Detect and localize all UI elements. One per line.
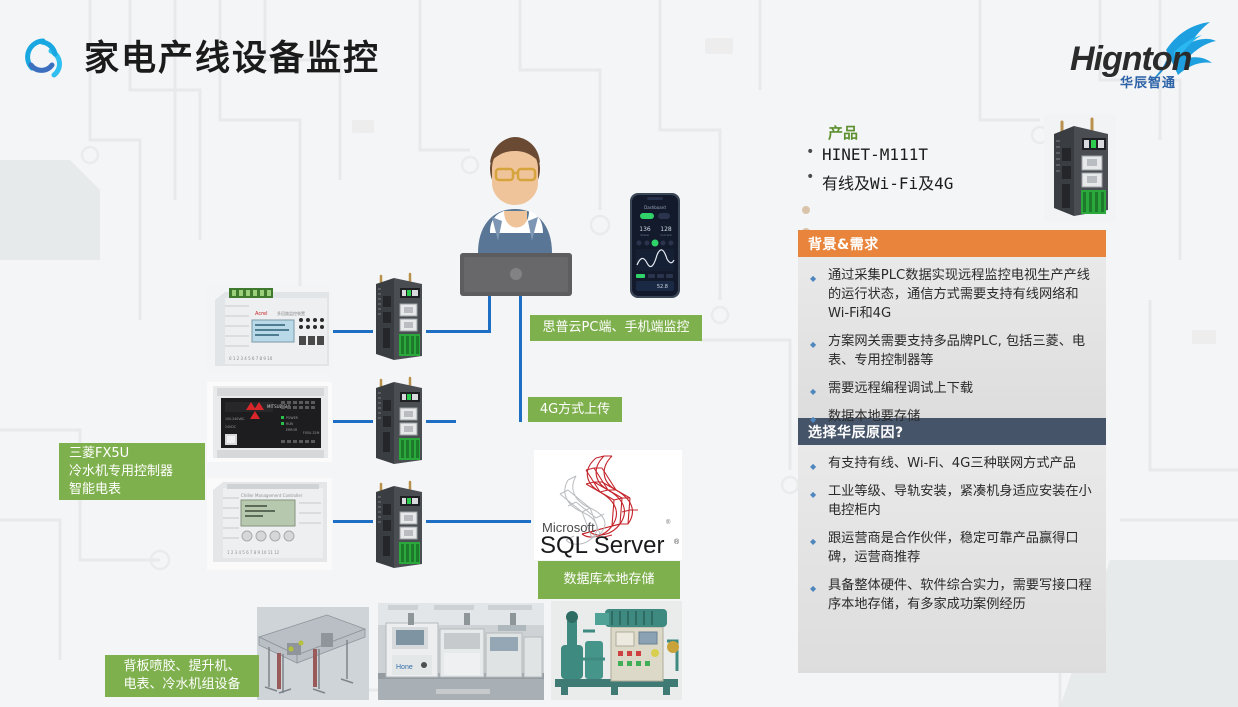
product-block: 产品 HINET-M111T 有线及Wi-Fi及4G	[798, 112, 1106, 230]
svg-text:24VDC: 24VDC	[225, 425, 237, 429]
label-left-devices: 三菱FX5U 冷水机专用控制器 智能电表	[59, 443, 205, 500]
hinet-gateway-device-1	[370, 272, 426, 364]
hinet-gateway-device-3	[370, 480, 426, 572]
reason-item-3: 具备整体硬件、软件综合实力，需要写接口程序本地存储，有多家成功案例经历	[806, 576, 1096, 614]
link-gateway0-trunk	[426, 330, 491, 333]
label-bottom-equipment-text: 背板喷胶、提升机、 电表、冷水机组设备	[123, 658, 240, 694]
label-bottom-equipment: 背板喷胶、提升机、 电表、冷水机组设备	[105, 655, 259, 697]
svg-text:FX5U-32M: FX5U-32M	[303, 431, 320, 435]
photo-conveyor-equipment	[257, 607, 369, 700]
svg-text:Hone: Hone	[396, 664, 413, 671]
product-item-1: 有线及Wi-Fi及4G	[806, 170, 953, 194]
bg-req-item-1: 方案网关需要支持多品牌PLC, 包括三菱、电表、专用控制器等	[806, 332, 1096, 370]
svg-text:®: ®	[674, 538, 680, 546]
svg-text:®: ®	[666, 519, 671, 526]
reason-item-2: 跟运营商是合作伙伴，稳定可靠产品赢得口碑，运营商推荐	[806, 529, 1096, 567]
bg-req-item-3: 数据本地要存储	[806, 407, 1096, 426]
hinet-gateway-device-2	[370, 376, 426, 468]
photo-production-line: Hone	[378, 603, 544, 700]
link-laptop-down	[519, 292, 522, 422]
svg-text:Chiller Management Controller: Chiller Management Controller	[241, 493, 303, 498]
hignton-circle-logo-icon	[17, 34, 69, 86]
smart-meter-device-photo: Acrel 多回路监控装置 0 1 2 3 4 5 6 7 8 9 10	[207, 286, 332, 374]
svg-text:Acrel: Acrel	[255, 311, 268, 317]
svg-text:52.8: 52.8	[657, 284, 668, 290]
label-left-devices-text: 三菱FX5U 冷水机专用控制器 智能电表	[69, 445, 173, 499]
svg-text:Power: Power	[640, 233, 650, 237]
mobile-monitor-device: Dashboard 136 128 Power Current 52.8	[630, 193, 680, 298]
product-item-0: HINET-M111T	[806, 145, 928, 164]
info-column: 产品 HINET-M111T 有线及Wi-Fi及4G	[798, 112, 1106, 673]
svg-text:136: 136	[639, 226, 651, 233]
svg-text:0 1 2 3 4 5 6 7 8 9 10: 0 1 2 3 4 5 6 7 8 9 10	[229, 356, 273, 361]
background-requirements-header: 背景&需求	[798, 230, 1106, 257]
company-cn-name: 华辰智通	[1120, 72, 1176, 91]
label-db-local-storage-text: 数据库本地存储	[563, 571, 654, 589]
label-cloud-monitor: 思普云PC端、手机端监控	[530, 315, 702, 341]
sqlserver-product-text: SQL Server	[540, 532, 665, 559]
photo-chiller-unit: HICOOL	[551, 601, 682, 700]
svg-text:MITSUBISHI: MITSUBISHI	[267, 404, 290, 409]
label-db-local-storage: 数据库本地存储	[538, 561, 680, 599]
label-4g-upload: 4G方式上传	[528, 397, 622, 422]
chiller-controller-device-photo: Chiller Management Controller 1 2 3 4 5 …	[207, 478, 332, 570]
reason-body: 有支持有线、Wi-Fi、4G三种联网方式产品 工业等级、导轨安装，紧凑机身适应安…	[798, 445, 1106, 673]
svg-text:POWER: POWER	[286, 416, 299, 420]
link-gateway1-trunk	[426, 420, 456, 423]
product-gateway-photo	[1044, 114, 1116, 222]
label-cloud-monitor-text: 思普云PC端、手机端监控	[543, 319, 690, 337]
svg-text:Current: Current	[660, 233, 672, 237]
link-controller-gateway	[333, 520, 373, 523]
reason-item-0: 有支持有线、Wi-Fi、4G三种联网方式产品	[806, 454, 1096, 473]
svg-text:Dashboard: Dashboard	[644, 205, 666, 210]
bg-req-item-2: 需要远程编程调试上下载	[806, 379, 1096, 398]
bg-req-item-0: 通过采集PLC数据实现远程监控电视生产产线的运行状态，通信方式需要支持有线网络和…	[806, 266, 1096, 323]
svg-text:多回路监控装置: 多回路监控装置	[277, 310, 305, 316]
link-trunk-vertical	[488, 292, 491, 333]
mitsubishi-plc-device-photo: MITSUBISHI POWERRUNERROR 100-240VAC24VDC…	[207, 382, 332, 462]
link-gateway2-trunk	[426, 520, 531, 523]
reason-item-1: 工业等级、导轨安装，紧凑机身适应安装在小电控柜内	[806, 482, 1096, 520]
svg-text:ERROR: ERROR	[286, 428, 298, 432]
svg-text:RUN: RUN	[286, 422, 294, 426]
link-meter-gateway	[333, 330, 373, 333]
svg-text:100-240VAC: 100-240VAC	[225, 417, 245, 421]
page-title: 家电产线设备监控	[84, 30, 380, 81]
background-requirements-body: 通过采集PLC数据实现远程监控电视生产产线的运行状态，通信方式需要支持有线网络和…	[798, 257, 1106, 418]
svg-text:1 2 3 4 5 6 7 8 9 10 11 12: 1 2 3 4 5 6 7 8 9 10 11 12	[227, 550, 280, 555]
page-header: 家电产线设备监控 Hignton 华辰智通	[0, 0, 1238, 100]
label-4g-upload-text: 4G方式上传	[540, 401, 610, 419]
product-heading: 产品	[828, 122, 858, 143]
sql-server-logo: Microsoft SQL Server ® ®	[534, 450, 682, 560]
link-plc-gateway	[333, 420, 373, 423]
svg-text:128: 128	[660, 226, 672, 233]
company-logo: Hignton 华辰智通	[1070, 22, 1218, 90]
operator-with-laptop-illustration	[458, 133, 576, 296]
